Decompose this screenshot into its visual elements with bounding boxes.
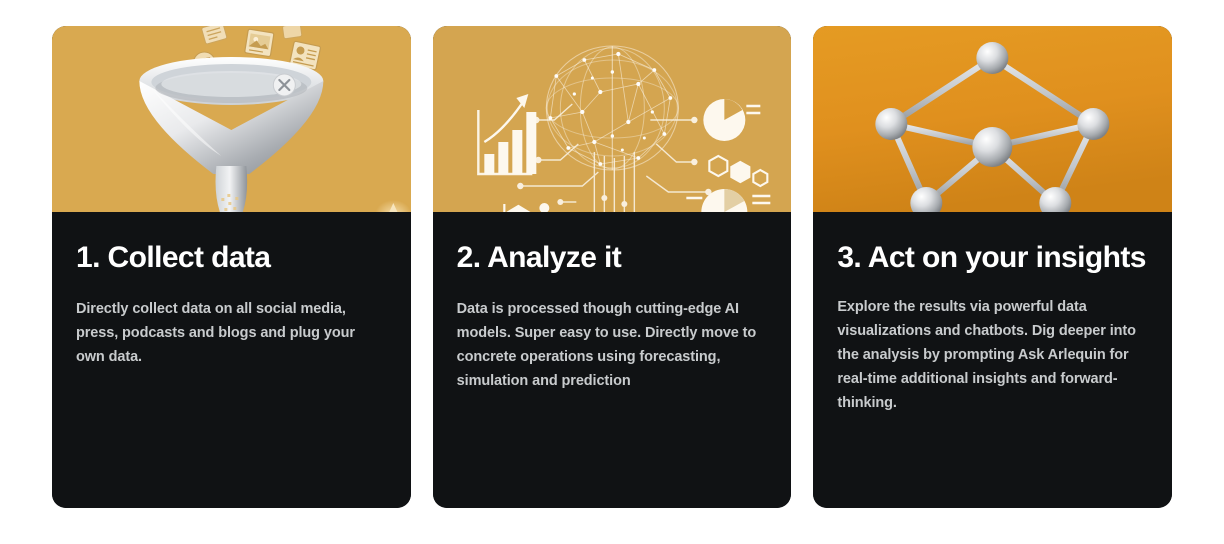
feature-card-act-on-insights[interactable]: 3. Act on your insights Explore the resu… [813, 26, 1172, 508]
card-description: Directly collect data on all social medi… [76, 297, 387, 369]
ai-brain-icon [433, 26, 792, 212]
x-badge-icon [273, 74, 295, 96]
card-title: 2. Analyze it [457, 238, 768, 277]
card-body-collect-data: 1. Collect data Directly collect data on… [52, 212, 411, 508]
card-media-act-on-insights [813, 26, 1172, 212]
node-network-icon [813, 26, 1172, 212]
card-title: 1. Collect data [76, 238, 387, 277]
card-body-act-on-insights: 3. Act on your insights Explore the resu… [813, 212, 1172, 508]
card-media-collect-data [52, 26, 411, 212]
card-description: Explore the results via powerful data vi… [837, 295, 1148, 415]
funnel-icon [52, 26, 411, 212]
feature-cards-row: 1. Collect data Directly collect data on… [52, 26, 1172, 508]
card-title: 3. Act on your insights [837, 238, 1148, 277]
card-description: Data is processed though cutting-edge AI… [457, 297, 768, 393]
card-body-analyze-it: 2. Analyze it Data is processed though c… [433, 212, 792, 508]
card-media-analyze-it [433, 26, 792, 212]
feature-card-collect-data[interactable]: 1. Collect data Directly collect data on… [52, 26, 411, 508]
feature-card-analyze-it[interactable]: 2. Analyze it Data is processed though c… [433, 26, 792, 508]
